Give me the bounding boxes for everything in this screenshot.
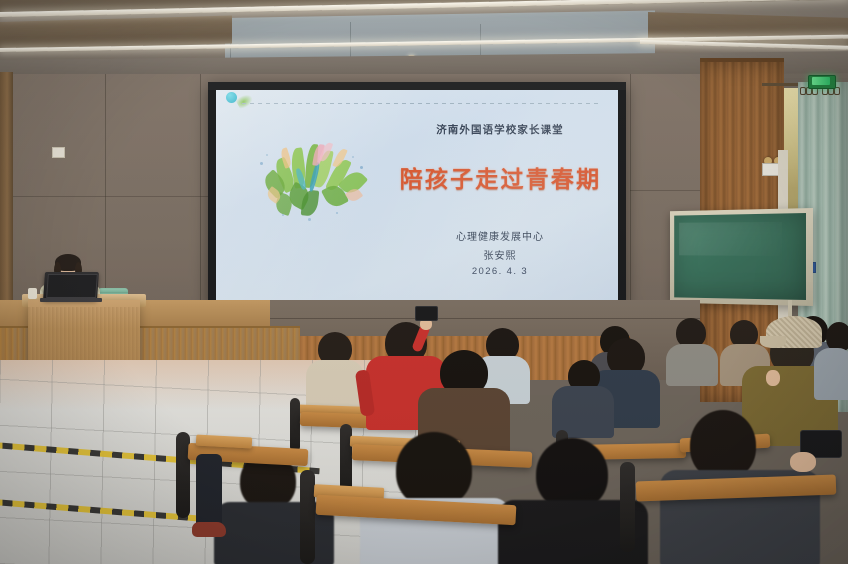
slide-dashed-divider <box>242 103 602 104</box>
bench-armrest <box>300 470 315 564</box>
wall-seam <box>0 196 210 197</box>
phone-icon <box>415 306 438 321</box>
lower-wall-seam <box>270 318 700 319</box>
laptop-base <box>40 298 102 302</box>
cap-brim <box>760 336 786 348</box>
bench-armrest <box>340 424 352 492</box>
slide-floral-illustration <box>252 142 402 254</box>
slide-title: 陪孩子走过青春期 <box>398 160 603 194</box>
lecture-hall-photo: 济南外国语学校家长课堂 陪孩子走过青春期 心理健康发展中心 张安熙 2026. … <box>0 0 848 564</box>
slide-organization: 心理健康发展中心 <box>405 228 595 243</box>
projector-screen[interactable]: 济南外国语学校家长课堂 陪孩子走过青春期 心理健康发展中心 张安熙 2026. … <box>216 90 618 300</box>
slide-subtitle: 济南外国语学校家长课堂 <box>400 122 600 137</box>
wall-seam <box>630 74 631 314</box>
laptop-screen[interactable] <box>46 274 98 298</box>
bench-armrest <box>620 462 635 552</box>
wall-seam <box>200 74 201 304</box>
slide-presenter: 张安熙 <box>405 247 595 262</box>
projector-screen-top-bar <box>208 82 626 90</box>
attendee-shoe <box>192 522 226 537</box>
slide-date: 2026. 4. 3 <box>405 266 595 277</box>
chalkboard-sheen <box>679 222 782 256</box>
attendee-leg <box>196 454 222 530</box>
exit-sign-glyph <box>812 77 830 85</box>
slide-leaf-icon <box>235 92 255 110</box>
bench-armrest <box>290 398 300 452</box>
podium-cup[interactable] <box>28 288 37 299</box>
wall-seam <box>630 190 702 191</box>
wall-fixture <box>52 147 65 158</box>
